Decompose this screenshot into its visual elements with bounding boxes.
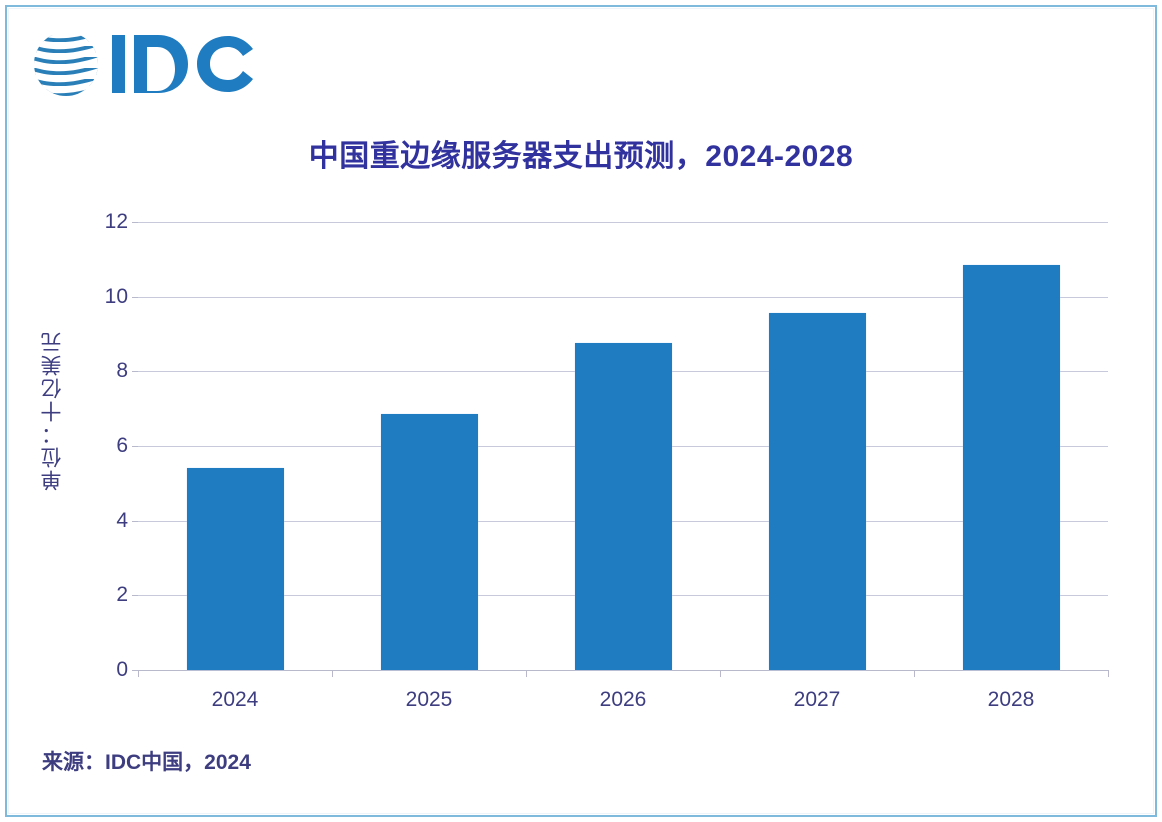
y-axis-tick-label: 2 [84, 583, 128, 607]
x-axis-tick-label-2027: 2027 [794, 688, 841, 712]
y-axis-title: 单位：十亿美元 [38, 330, 68, 491]
figure-root: 中国重边缘服务器支出预测，2024-2028 单位：十亿美元 024681012… [0, 0, 1162, 822]
x-axis-tick-mark [138, 670, 139, 677]
bar-2026 [575, 343, 672, 670]
y-axis-tick-label: 10 [84, 285, 128, 309]
bar-2028 [963, 265, 1060, 670]
x-axis-tick-mark [1108, 670, 1109, 677]
x-axis-line [138, 670, 1108, 671]
chart-title: 中国重边缘服务器支出预测，2024-2028 [0, 131, 1162, 175]
y-axis-tick-label: 4 [84, 509, 128, 533]
bar-2027 [769, 313, 866, 670]
x-axis-tick-mark [914, 670, 915, 677]
y-axis-tick-label: 8 [84, 359, 128, 383]
source-note: 来源：IDC中国，2024 [42, 746, 251, 776]
x-axis-tick-mark [332, 670, 333, 677]
globe-stripes-icon [28, 25, 110, 103]
x-axis-tick-mark [720, 670, 721, 677]
x-axis-tick-label-2026: 2026 [600, 688, 647, 712]
bar-2025 [381, 414, 478, 670]
idc-logo-svg [28, 25, 288, 103]
y-axis-tick-label: 0 [84, 658, 128, 682]
y-axis-tick-label: 12 [84, 210, 128, 234]
x-axis-tick-label-2024: 2024 [212, 688, 259, 712]
x-axis-tick-label-2025: 2025 [406, 688, 453, 712]
x-axis-tick-label-2028: 2028 [988, 688, 1035, 712]
bar-2024 [187, 468, 284, 670]
idc-logo [28, 25, 288, 103]
x-axis-tick-mark [526, 670, 527, 677]
idc-wordmark [112, 35, 253, 93]
gridline [138, 222, 1108, 223]
plot-area [138, 222, 1108, 670]
y-axis-tick-label: 6 [84, 434, 128, 458]
